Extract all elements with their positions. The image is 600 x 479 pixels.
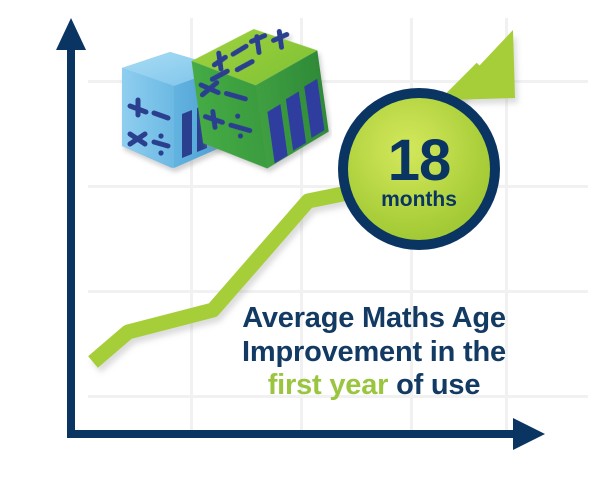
headline-line-3-rest: of use (388, 369, 480, 401)
infographic-canvas: 18 months Average Maths Age Improvement … (0, 0, 600, 479)
headline: Average Maths Age Improvement in the fir… (196, 302, 552, 403)
headline-line-3: first year of use (196, 369, 552, 403)
green-maths-cube (188, 21, 332, 177)
trend-arrow-head-icon (447, 30, 515, 100)
headline-line-1: Average Maths Age (196, 302, 552, 336)
badge-unit-label: months (381, 189, 457, 210)
maths-cubes-illustration (112, 18, 332, 198)
badge-number: 18 (388, 134, 451, 187)
headline-highlight: first year (268, 369, 389, 401)
result-badge-inner: 18 months (348, 98, 490, 240)
headline-line-2: Improvement in the (196, 336, 552, 370)
result-badge: 18 months (338, 88, 500, 250)
